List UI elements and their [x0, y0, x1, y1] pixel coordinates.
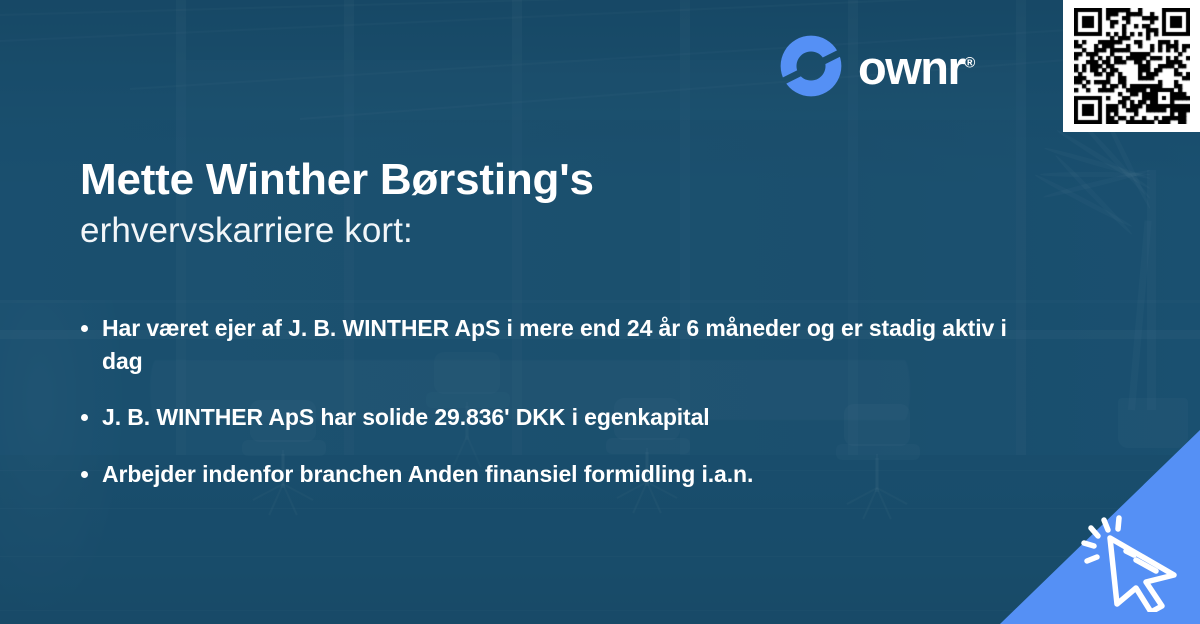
list-item: J. B. WINTHER ApS har solide 29.836' DKK… — [80, 401, 1040, 434]
list-item: Arbejder indenfor branchen Anden finansi… — [80, 458, 1040, 491]
qr-code[interactable] — [1074, 8, 1190, 124]
click-cursor-icon — [1078, 512, 1188, 612]
page-title: Mette Winther Børsting's — [80, 155, 594, 204]
ownr-wordmark-text: ownr — [858, 41, 964, 94]
bullet-dot-icon — [81, 325, 88, 332]
list-item-text: Arbejder indenfor branchen Anden finansi… — [102, 461, 753, 487]
list-item: Har været ejer af J. B. WINTHER ApS i me… — [80, 312, 1040, 377]
career-facts-list: Har været ejer af J. B. WINTHER ApS i me… — [80, 312, 1040, 491]
bullet-dot-icon — [81, 471, 88, 478]
registered-trademark-icon: ® — [964, 54, 975, 71]
ownr-circle-swoosh-icon — [778, 33, 844, 99]
page-subtitle: erhvervskarriere kort: — [80, 210, 413, 252]
ownr-logo[interactable]: ownr® — [778, 33, 975, 99]
ownr-wordmark: ownr® — [858, 44, 975, 91]
list-item-text: J. B. WINTHER ApS har solide 29.836' DKK… — [102, 404, 710, 430]
bullet-dot-icon — [81, 414, 88, 421]
career-card: Mette Winther Børsting's erhvervskarrier… — [0, 0, 1200, 624]
qr-code-panel[interactable] — [1063, 0, 1200, 132]
list-item-text: Har været ejer af J. B. WINTHER ApS i me… — [102, 315, 1007, 374]
